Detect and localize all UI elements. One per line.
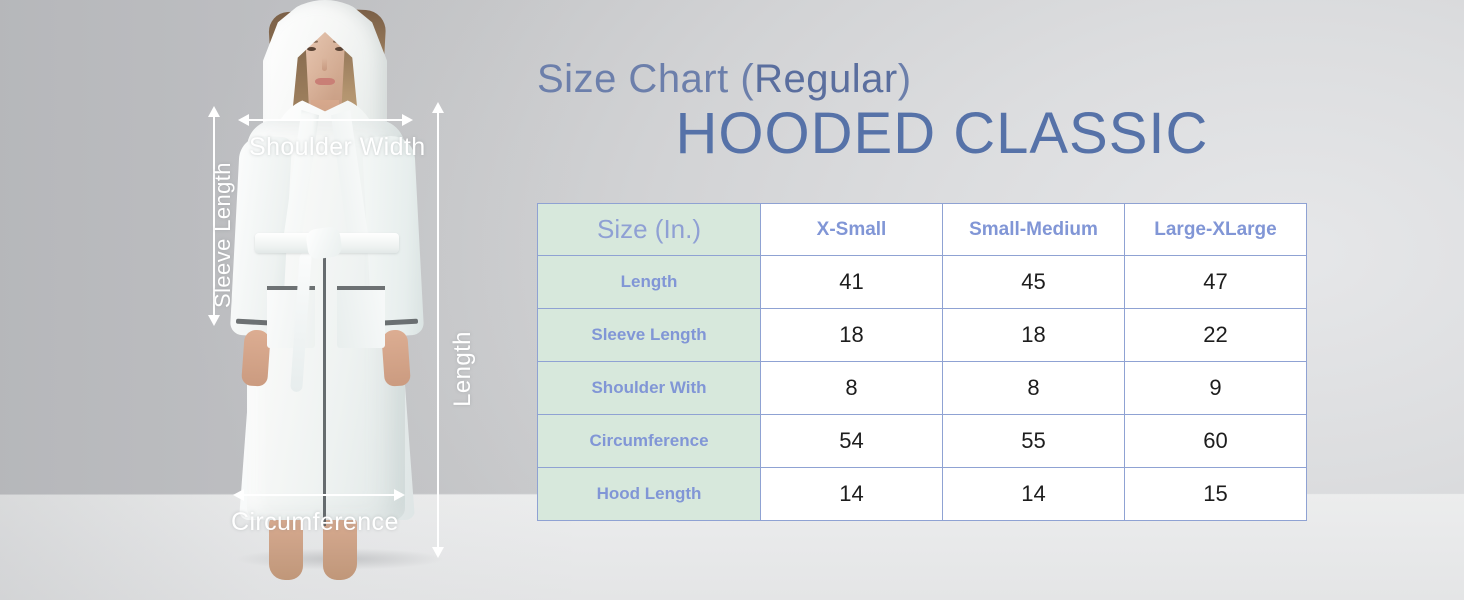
shoulder-width-label: Shoulder Width [249,133,426,162]
row-label-circumference: Circumference [538,415,761,468]
size-chart-table: Size (In.) X-Small Small-Medium Large-XL… [537,203,1307,521]
cell-sleeve-length-small-medium: 18 [943,309,1125,362]
cell-hood-length-large-xlarge: 15 [1125,468,1307,521]
column-header-large-xlarge: Large-XLarge [1125,204,1307,256]
column-header-size-unit: Size (In.) [538,204,761,256]
column-header-small-medium: Small-Medium [943,204,1125,256]
title-size-chart-text: Size Chart ( [537,57,754,101]
shoulder-width-arrow-icon [248,119,403,121]
table-row: Length 41 45 47 [538,256,1307,309]
sleeve-length-label: Sleeve Length [210,162,236,308]
row-label-sleeve-length: Sleeve Length [538,309,761,362]
row-label-length: Length [538,256,761,309]
cell-shoulder-width-small-medium: 8 [943,362,1125,415]
cell-length-small-medium: 45 [943,256,1125,309]
column-header-x-small: X-Small [761,204,943,256]
title-regular-text: Regular [754,57,898,101]
page-title-line-2: HOODED CLASSIC [537,102,1307,166]
title-paren-close: ) [898,57,912,101]
cell-hood-length-x-small: 14 [761,468,943,521]
table-row: Shoulder With 8 8 9 [538,362,1307,415]
model-hand-right [381,329,411,387]
table-row: Circumference 54 55 60 [538,415,1307,468]
cell-hood-length-small-medium: 14 [943,468,1125,521]
cell-circumference-large-xlarge: 60 [1125,415,1307,468]
cell-circumference-small-medium: 55 [943,415,1125,468]
row-label-hood-length: Hood Length [538,468,761,521]
robe-pocket-right [337,286,385,348]
table-body: Length 41 45 47 Sleeve Length 18 18 22 S… [538,256,1307,521]
cell-length-x-small: 41 [761,256,943,309]
length-label: Length [449,331,477,407]
table-header: Size (In.) X-Small Small-Medium Large-XL… [538,204,1307,256]
size-chart-graphic: Shoulder Width Sleeve Length Length Circ… [0,0,1464,600]
page-title-line-1: Size Chart (Regular) [537,58,1307,100]
row-label-shoulder-width: Shoulder With [538,362,761,415]
circumference-label: Circumference [231,508,399,537]
cell-circumference-x-small: 54 [761,415,943,468]
cell-shoulder-width-x-small: 8 [761,362,943,415]
model-nose [322,58,327,71]
circumference-arrow-icon [243,494,395,496]
cell-sleeve-length-large-xlarge: 22 [1125,309,1307,362]
table-header-row: Size (In.) X-Small Small-Medium Large-XL… [538,204,1307,256]
cell-sleeve-length-x-small: 18 [761,309,943,362]
robe-front-placket-trim [323,236,326,526]
cell-shoulder-width-large-xlarge: 9 [1125,362,1307,415]
cell-length-large-xlarge: 47 [1125,256,1307,309]
length-arrow-icon [437,112,439,548]
table-row: Sleeve Length 18 18 22 [538,309,1307,362]
table-row: Hood Length 14 14 15 [538,468,1307,521]
chart-title-block: Size Chart (Regular) HOODED CLASSIC [537,58,1307,166]
model-mouth [315,78,335,85]
robe-belt-knot [305,226,343,260]
